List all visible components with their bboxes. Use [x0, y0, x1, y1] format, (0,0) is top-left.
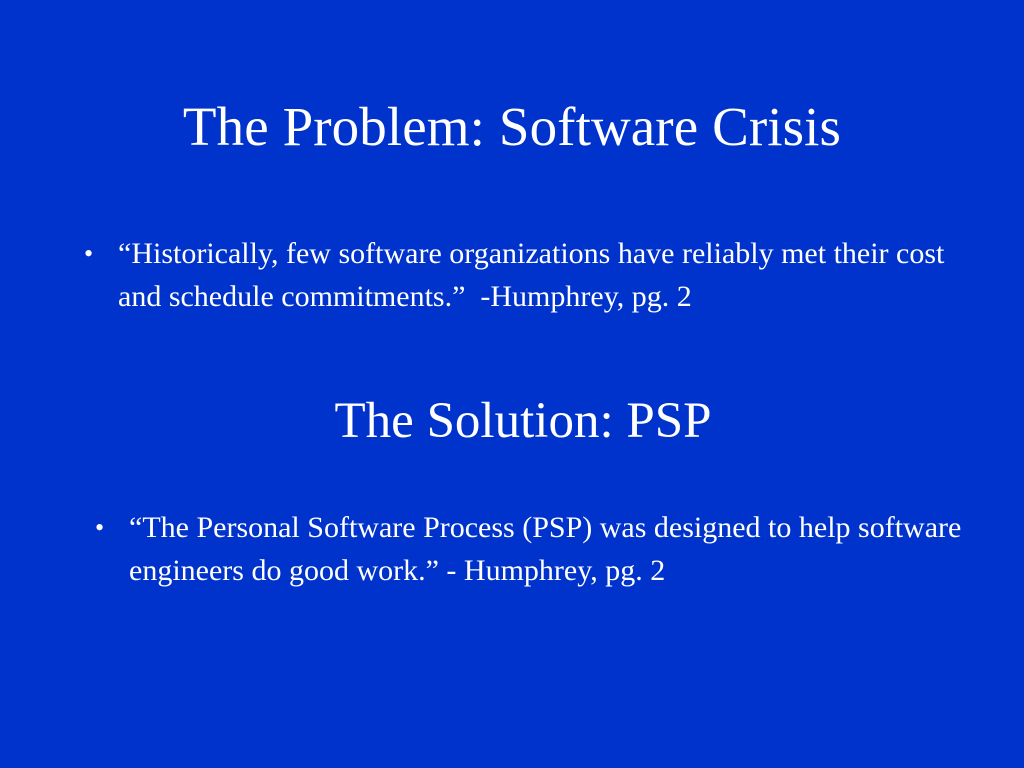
bullet-dot-icon: • — [84, 232, 118, 275]
page-title: The Problem: Software Crisis — [0, 96, 1024, 158]
bullet-item-solution: • “The Personal Software Process (PSP) w… — [95, 506, 975, 592]
bullet-text-problem: “Historically, few software organization… — [118, 232, 964, 318]
section-heading-solution: The Solution: PSP — [0, 392, 1024, 450]
slide-canvas: The Problem: Software Crisis • “Historic… — [0, 0, 1024, 768]
bullet-dot-icon: • — [95, 506, 129, 549]
bullet-item-problem: • “Historically, few software organizati… — [84, 232, 964, 318]
bullet-text-solution: “The Personal Software Process (PSP) was… — [129, 506, 975, 592]
